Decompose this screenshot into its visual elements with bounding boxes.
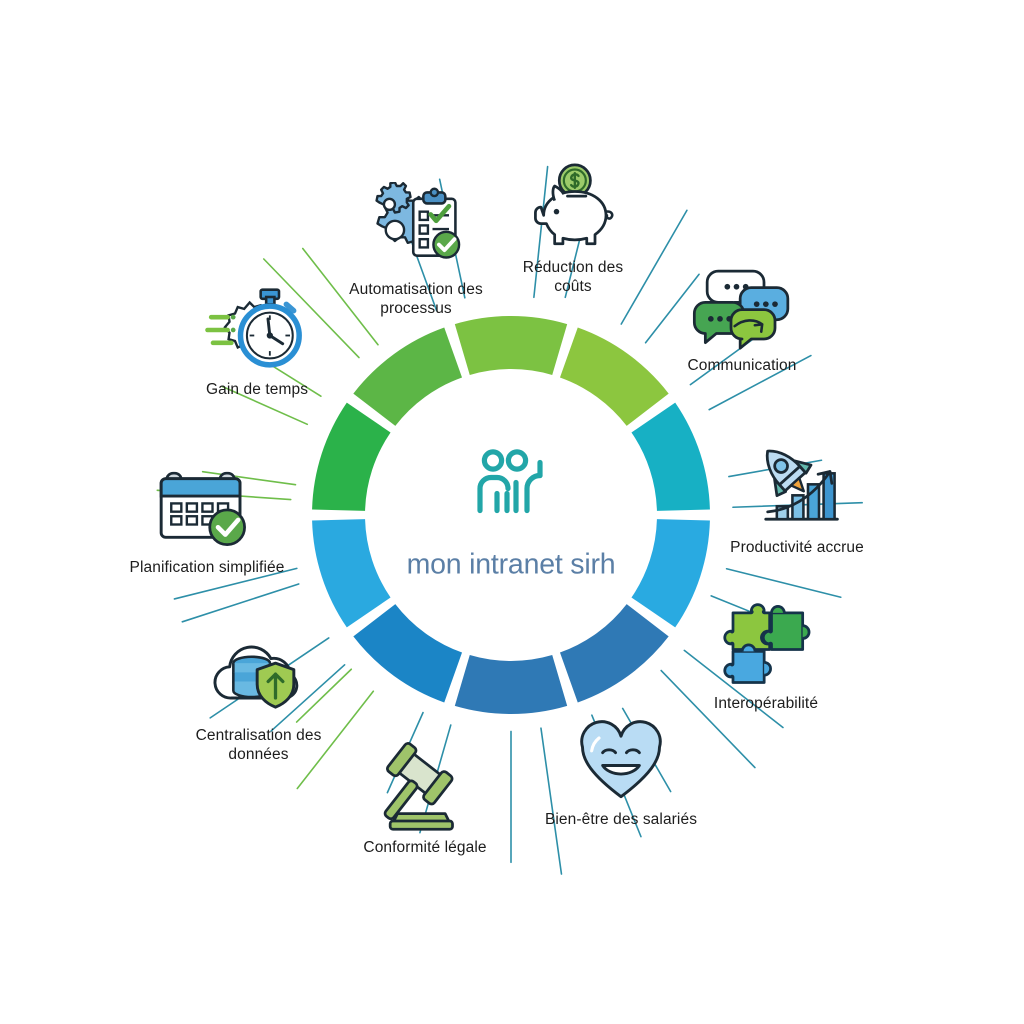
- ring-segment[interactable]: [312, 519, 390, 627]
- stopwatch-gear-icon: [202, 282, 312, 378]
- node-communication[interactable]: Communication: [678, 258, 806, 375]
- node-conformite[interactable]: Conformité légale: [358, 740, 492, 857]
- brand-text: mon intranet sirh: [407, 549, 616, 582]
- node-gain-de-temps[interactable]: Gain de temps: [196, 282, 318, 399]
- calendar-check-icon: [152, 460, 262, 556]
- ring-segment[interactable]: [312, 403, 390, 511]
- node-label: Interopérabilité: [714, 694, 818, 713]
- cloud-database-shield-icon: [204, 628, 314, 724]
- node-reduction-couts[interactable]: Réduction des coûts: [508, 160, 638, 296]
- piggy-bank-coin-icon: [518, 160, 628, 256]
- rocket-growth-chart-icon: [742, 440, 852, 536]
- ring-segment[interactable]: [455, 316, 567, 375]
- node-label: Automatisation des processus: [349, 280, 483, 318]
- node-label: Gain de temps: [206, 380, 308, 399]
- spoke-line: [727, 569, 841, 597]
- gavel-icon: [370, 740, 480, 836]
- node-label: Bien-être des salariés: [545, 810, 697, 829]
- two-people-logo-icon: [472, 449, 550, 515]
- node-label: Communication: [688, 356, 797, 375]
- infographic-canvas: mon intranet sirh Automatisati: [0, 0, 1024, 1024]
- speech-bubbles-icon: [687, 258, 797, 354]
- node-interoperabilite[interactable]: Interopérabilité: [700, 596, 832, 713]
- ring-segment[interactable]: [353, 328, 462, 426]
- ring-segment[interactable]: [353, 604, 462, 702]
- node-label: Centralisation des données: [196, 726, 322, 764]
- ring-segment[interactable]: [455, 655, 567, 714]
- node-label: Conformité légale: [363, 838, 486, 857]
- node-automatisation[interactable]: Automatisation des processus: [341, 182, 491, 318]
- puzzle-pieces-icon: [711, 596, 821, 692]
- node-label: Productivité accrue: [730, 538, 864, 557]
- node-label: Planification simplifiée: [130, 558, 285, 577]
- node-bien-etre[interactable]: Bien-être des salariés: [537, 712, 705, 829]
- ring-segment[interactable]: [560, 604, 669, 702]
- gears-checklist-icon: [361, 182, 471, 278]
- node-productivite[interactable]: Productivité accrue: [722, 440, 872, 557]
- ring-segment[interactable]: [631, 403, 709, 511]
- node-planification[interactable]: Planification simplifiée: [122, 460, 292, 577]
- smiling-heart-icon: [566, 712, 676, 808]
- ring-segment[interactable]: [631, 519, 709, 627]
- node-label: Réduction des coûts: [523, 258, 623, 296]
- spoke-line: [182, 584, 298, 622]
- center-brand: mon intranet sirh: [381, 449, 641, 582]
- node-centralisation[interactable]: Centralisation des données: [186, 628, 331, 764]
- ring-segment[interactable]: [560, 328, 669, 426]
